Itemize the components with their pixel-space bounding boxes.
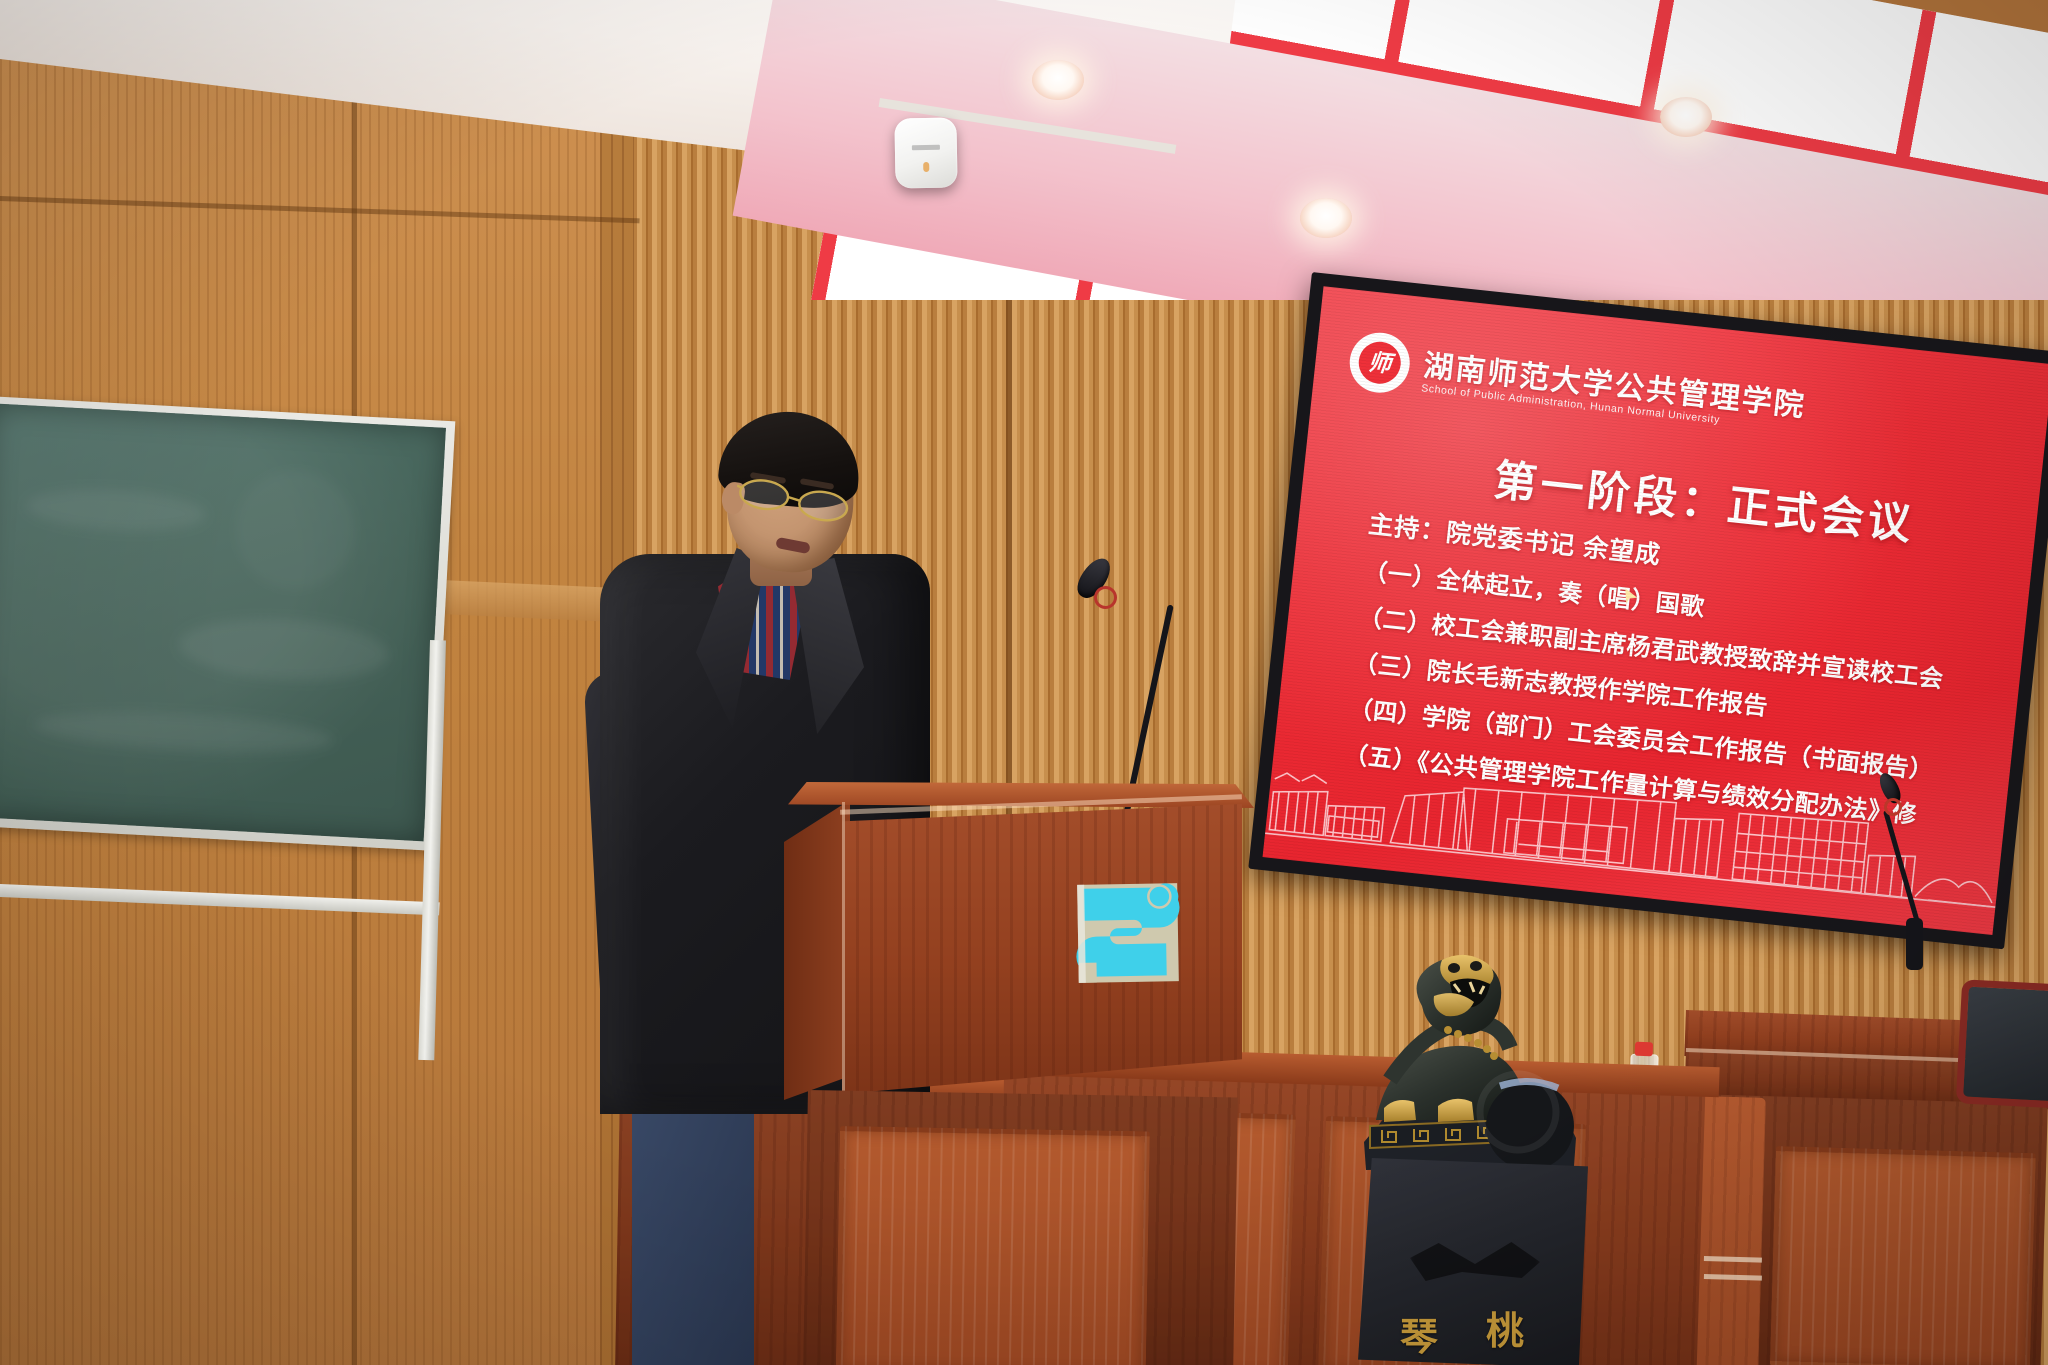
lion-statue-figure bbox=[1330, 930, 1620, 1180]
photo-scene: 师 湖南师范大学公共管理学院 School of Public Administ… bbox=[0, 0, 2048, 1365]
podium-side-panel bbox=[784, 800, 850, 1100]
downlight-1 bbox=[1032, 60, 1084, 100]
pedestal-character-1: 琴 bbox=[1400, 1306, 1438, 1361]
presidium-chair[interactable] bbox=[1954, 979, 2048, 1145]
downlight-2 bbox=[1300, 198, 1352, 238]
chalkboard bbox=[0, 396, 455, 851]
podium-corner-seam bbox=[842, 802, 845, 1094]
pedestal-character-2: 桃 bbox=[1486, 1300, 1524, 1355]
podium-base-panel bbox=[836, 1126, 1150, 1365]
pedestal-ink-mark bbox=[1410, 1238, 1540, 1288]
downlight-3 bbox=[1660, 97, 1712, 137]
hunan-normal-university-s-emblem-icon bbox=[1073, 879, 1187, 989]
guardian-lion-statue: 琴 桃 bbox=[1330, 930, 1620, 1365]
led-display-screen[interactable]: 师 湖南师范大学公共管理学院 School of Public Administ… bbox=[1248, 272, 2048, 949]
presidium-table-panel bbox=[1770, 1146, 2036, 1365]
ceiling bbox=[0, 0, 2048, 300]
chalkboard-surface bbox=[0, 403, 446, 841]
presidium-microphone-base bbox=[1906, 918, 1923, 970]
wifi-access-point-icon bbox=[894, 117, 957, 188]
screen-content: 师 湖南师范大学公共管理学院 School of Public Administ… bbox=[1263, 286, 2048, 935]
speaking-podium bbox=[806, 782, 1236, 1112]
statue-pedestal: 琴 桃 bbox=[1358, 1158, 1588, 1365]
screen-bezel: 师 湖南师范大学公共管理学院 School of Public Administ… bbox=[1248, 272, 2048, 949]
